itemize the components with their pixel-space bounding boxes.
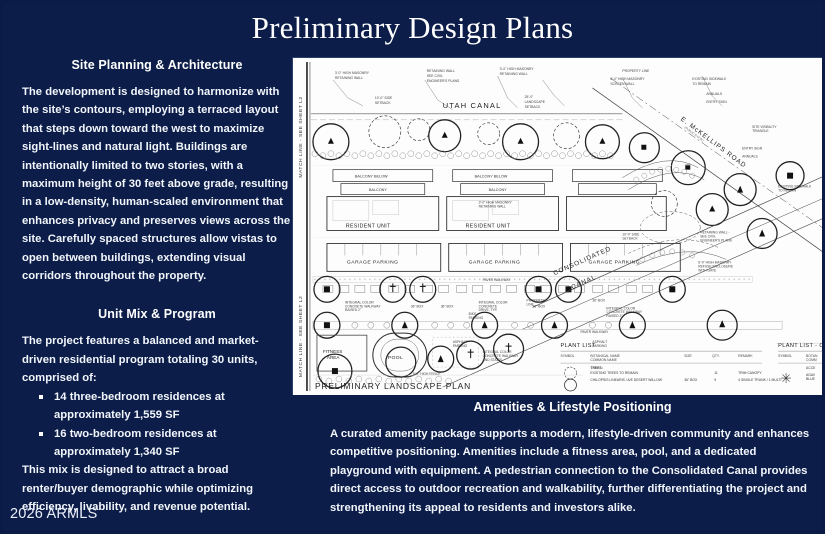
svg-text:11: 11 bbox=[714, 371, 718, 375]
match-line-label-top: MATCH LINE - SEE SHEET L2 bbox=[298, 96, 304, 177]
svg-text:CHILOPSIS LINEARIS / A/E DESER: CHILOPSIS LINEARIS / A/E DESERT WILLOW bbox=[590, 378, 662, 382]
svg-text:36" BOX: 36" BOX bbox=[684, 378, 698, 382]
svg-text:SCREEN WALL: SCREEN WALL bbox=[610, 82, 634, 86]
svg-text:TRIM CANOPY: TRIM CANOPY bbox=[738, 371, 762, 375]
svg-text:BALCONY BELOW: BALCONY BELOW bbox=[355, 175, 388, 179]
section-body-site-planning: The development is designed to harmonize… bbox=[22, 83, 292, 285]
svg-text:PLANT LIST: PLANT LIST bbox=[560, 343, 595, 349]
svg-text:COMMON NAME: COMMON NAME bbox=[590, 358, 617, 362]
svg-text:RAISED 2": RAISED 2" bbox=[345, 308, 362, 312]
svg-text:ACCE: ACCE bbox=[806, 366, 816, 370]
list-item: 14 three-bedroom residences at approxima… bbox=[26, 388, 292, 425]
svg-text:ENGINEER'S PLANS: ENGINEER'S PLANS bbox=[427, 79, 460, 83]
svg-text:RETAINING WALL: RETAINING WALL bbox=[427, 69, 455, 73]
section-heading-site-planning: Site Planning & Architecture bbox=[22, 58, 292, 72]
unit-mix-bullet-list: 14 three-bedroom residences at approxima… bbox=[26, 388, 292, 462]
bottom-right-content: Amenities & Lifestyle Positioning A cura… bbox=[330, 400, 815, 517]
svg-text:36" BOX: 36" BOX bbox=[592, 298, 605, 302]
svg-text:POOL: POOL bbox=[388, 355, 403, 361]
svg-text:SETBACK: SETBACK bbox=[525, 105, 542, 109]
svg-text:RETAINING WALL: RETAINING WALL bbox=[335, 76, 363, 80]
svg-text:WITH GATE: WITH GATE bbox=[698, 268, 717, 272]
site-plan-image: MATCH LINE - SEE SHEET L2 MATCH LINE - S… bbox=[292, 57, 825, 395]
svg-text:LANDSCAPE: LANDSCAPE bbox=[525, 100, 546, 104]
section-body-amenities: A curated amenity package supports a mod… bbox=[330, 425, 815, 517]
slide-root: Preliminary Design Plans Site Planning &… bbox=[0, 0, 825, 534]
list-item-label: 14 three-bedroom residences at approxima… bbox=[54, 391, 225, 421]
svg-text:25'-0": 25'-0" bbox=[525, 95, 534, 99]
page-title: Preliminary Design Plans bbox=[0, 10, 825, 46]
svg-text:SYMBOL: SYMBOL bbox=[560, 354, 574, 358]
svg-text:PARKING: PARKING bbox=[469, 316, 484, 320]
svg-text:ENGINEER'S PLANS: ENGINEER'S PLANS bbox=[700, 238, 732, 242]
svg-text:QTY.: QTY. bbox=[712, 354, 720, 358]
svg-text:RESIDENT UNIT: RESIDENT UNIT bbox=[346, 223, 391, 229]
svg-text:SETBACK: SETBACK bbox=[375, 101, 392, 105]
svg-text:3'-0" HIGH MASONRY: 3'-0" HIGH MASONRY bbox=[335, 71, 370, 75]
svg-text:COMM: COMM bbox=[806, 358, 817, 362]
list-item: 16 two-bedroom residences at approximate… bbox=[26, 425, 292, 462]
svg-text:3'-0" HIGH MASONRY: 3'-0" HIGH MASONRY bbox=[500, 67, 535, 71]
svg-text:9: 9 bbox=[714, 378, 716, 382]
svg-text:TREES:: TREES: bbox=[590, 366, 602, 370]
svg-text:36" BOX: 36" BOX bbox=[441, 304, 454, 308]
svg-text:RETAINING WALL: RETAINING WALL bbox=[500, 72, 528, 76]
svg-text:REMARK: REMARK bbox=[738, 354, 753, 358]
bullet-square-icon bbox=[39, 395, 43, 399]
svg-text:ENTRY SIGN: ENTRY SIGN bbox=[742, 147, 763, 151]
svg-text:DRIVE, TYP.: DRIVE, TYP. bbox=[479, 308, 498, 312]
section-heading-unit-mix: Unit Mix & Program bbox=[22, 307, 292, 321]
section-heading-amenities: Amenities & Lifestyle Positioning bbox=[330, 400, 815, 414]
drawing-title: PRELIMINARY LANDSCAPE PLAN bbox=[315, 381, 471, 391]
svg-text:6'-0" HIGH FENCE: 6'-0" HIGH FENCE bbox=[413, 372, 442, 376]
svg-text:EXISTING TREES TO REMAIN: EXISTING TREES TO REMAIN bbox=[590, 371, 638, 375]
svg-text:RESIDENT UNIT: RESIDENT UNIT bbox=[466, 223, 511, 229]
left-content-column: Site Planning & Architecture The develop… bbox=[22, 58, 292, 517]
svg-text:ANNUALS: ANNUALS bbox=[742, 155, 758, 159]
svg-text:FITNESS: FITNESS bbox=[323, 349, 342, 354]
copyright-footer: 2026 ARMLS bbox=[10, 506, 97, 522]
svg-text:SETBACK: SETBACK bbox=[622, 236, 638, 240]
svg-text:BALCONY BELOW: BALCONY BELOW bbox=[475, 175, 508, 179]
svg-text:TO REMAIN: TO REMAIN bbox=[692, 82, 711, 86]
svg-text:BLUE: BLUE bbox=[806, 377, 816, 381]
svg-text:TRIANGLE: TRIANGLE bbox=[752, 129, 769, 133]
svg-text:SYMBOL: SYMBOL bbox=[778, 354, 792, 358]
svg-text:SEE CIVIL: SEE CIVIL bbox=[427, 74, 443, 78]
svg-text:4 SINGLE TRUNK / 1 MULTI: 4 SINGLE TRUNK / 1 MULTI bbox=[738, 378, 781, 382]
section-intro-unit-mix: The project features a balanced and mark… bbox=[22, 332, 292, 387]
svg-text:PAVER WALKWAY: PAVER WALKWAY bbox=[580, 330, 609, 334]
svg-text:PAVER WALKWAY: PAVER WALKWAY bbox=[483, 278, 512, 282]
svg-text:GARAGE PARKING: GARAGE PARKING bbox=[469, 259, 521, 265]
svg-text:36" BOX: 36" BOX bbox=[411, 304, 424, 308]
svg-text:EXISTING SIDEWALK: EXISTING SIDEWALK bbox=[692, 77, 727, 81]
svg-text:ANNUALS: ANNUALS bbox=[706, 92, 723, 96]
list-item-label: 16 two-bedroom residences at approximate… bbox=[54, 428, 217, 458]
match-line-label-bottom: MATCH LINE - SEE SHEET L2 bbox=[298, 296, 304, 377]
landscape-plan-drawing: MATCH LINE - SEE SHEET L2 MATCH LINE - S… bbox=[293, 58, 825, 395]
utah-canal-label: UTAH CANAL bbox=[443, 101, 502, 110]
svg-text:SIZE: SIZE bbox=[684, 354, 692, 358]
spacer bbox=[22, 285, 292, 307]
svg-text:PROPERTY LINE: PROPERTY LINE bbox=[622, 69, 650, 73]
svg-text:10'-0" SIDE: 10'-0" SIDE bbox=[375, 96, 393, 100]
svg-text:BALCONY: BALCONY bbox=[369, 188, 388, 192]
svg-text:RAISED 2": RAISED 2" bbox=[606, 314, 623, 318]
svg-text:BALCONY: BALCONY bbox=[489, 188, 508, 192]
svg-text:RETAINING WALL: RETAINING WALL bbox=[479, 205, 507, 209]
svg-text:GARAGE PARKING: GARAGE PARKING bbox=[347, 259, 399, 265]
svg-text:ENTRY SIGN: ENTRY SIGN bbox=[706, 100, 727, 104]
svg-text:PLANT LIST - C: PLANT LIST - C bbox=[778, 343, 824, 349]
bullet-square-icon bbox=[39, 432, 43, 436]
svg-text:6'-0" HIGH MASONRY: 6'-0" HIGH MASONRY bbox=[610, 77, 645, 81]
svg-text:LINE: LINE bbox=[527, 302, 535, 306]
